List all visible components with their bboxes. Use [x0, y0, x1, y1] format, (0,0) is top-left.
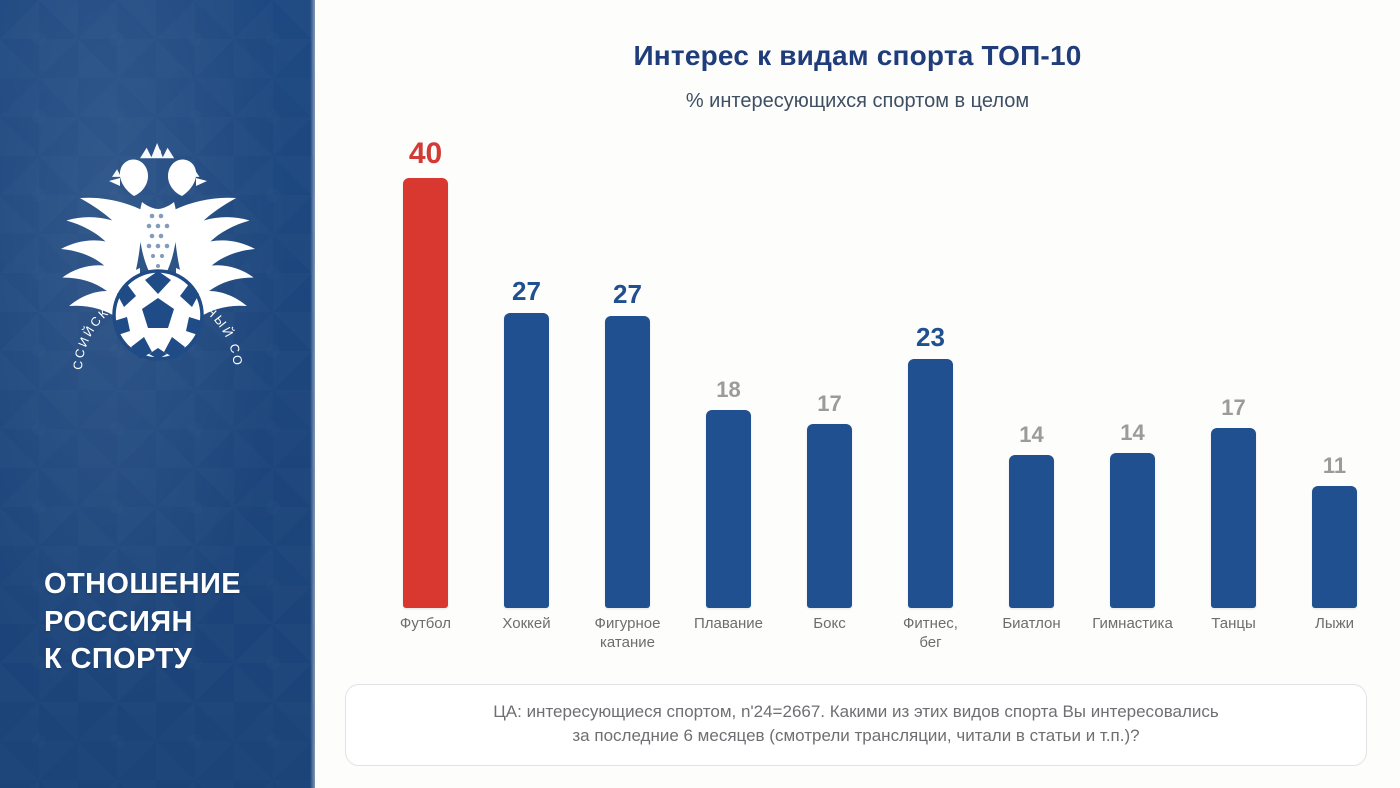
category-label: Плавание [678, 614, 779, 672]
bar [706, 410, 751, 608]
slide-root: РОССИЙСКИЙ ФУТБОЛЬНЫЙ СОЮЗ [0, 0, 1400, 788]
category-label-line: катание [579, 633, 676, 652]
category-label: Фигурноекатание [577, 614, 678, 672]
bar-column: 27 [577, 128, 678, 608]
bar [1211, 428, 1256, 608]
bar-chart: 40272718172314141711 ФутболХоккейФигурно… [375, 120, 1385, 680]
category-label-line: Футбол [377, 614, 474, 633]
sidebar-title-line-2: РОССИЯН [44, 604, 294, 642]
bar-value-label: 18 [716, 379, 740, 401]
sidebar-title: ОТНОШЕНИЕ РОССИЯН К СПОРТУ [44, 566, 294, 679]
category-label-line: Лыжи [1286, 614, 1383, 633]
category-label: Гимнастика [1082, 614, 1183, 672]
sidebar-title-line-1: ОТНОШЕНИЕ [44, 566, 294, 604]
sidebar-panel: РОССИЙСКИЙ ФУТБОЛЬНЫЙ СОЮЗ [0, 0, 315, 788]
bar-column: 17 [1183, 128, 1284, 608]
chart-title: Интерес к видам спорта ТОП-10 [315, 40, 1400, 72]
category-label-line: Гимнастика [1084, 614, 1181, 633]
sidebar-title-line-3: К СПОРТУ [44, 641, 294, 679]
bar-value-label: 23 [916, 324, 945, 350]
category-label-line: Биатлон [983, 614, 1080, 633]
bar-column: 17 [779, 128, 880, 608]
footnote-line-1: ЦА: интересующиеся спортом, n'24=2667. К… [370, 700, 1342, 724]
category-label-line: Фигурное [579, 614, 676, 633]
bar-value-label: 27 [613, 281, 642, 307]
category-axis-labels: ФутболХоккейФигурноекатаниеПлаваниеБоксФ… [375, 614, 1385, 672]
category-label: Хоккей [476, 614, 577, 672]
bar-series: 40272718172314141711 [375, 128, 1385, 608]
category-label: Бокс [779, 614, 880, 672]
category-label-line: Плавание [680, 614, 777, 633]
bar-column: 27 [476, 128, 577, 608]
bar-column: 23 [880, 128, 981, 608]
bar [1110, 453, 1155, 608]
bar-column: 14 [1082, 128, 1183, 608]
category-label-line: Фитнес, [882, 614, 979, 633]
chart-subtitle: % интересующихся спортом в целом [315, 90, 1400, 113]
category-label-line: Бокс [781, 614, 878, 633]
category-label-line: Хоккей [478, 614, 575, 633]
category-label-line: бег [882, 633, 979, 652]
bar [807, 424, 852, 608]
category-label: Футбол [375, 614, 476, 672]
bar-highlighted [403, 178, 448, 608]
bar-column: 40 [375, 128, 476, 608]
bar-value-label: 40 [409, 139, 442, 169]
football-ball-icon [114, 271, 202, 359]
bar-column: 18 [678, 128, 779, 608]
category-label: Танцы [1183, 614, 1284, 672]
main-content: Интерес к видам спорта ТОП-10 % интересу… [315, 0, 1400, 788]
russian-football-union-logo: РОССИЙСКИЙ ФУТБОЛЬНЫЙ СОЮЗ [53, 140, 263, 372]
bar [504, 313, 549, 608]
bar-value-label: 17 [1221, 397, 1245, 419]
bar [1312, 486, 1357, 608]
category-label: Лыжи [1284, 614, 1385, 672]
bar-value-label: 11 [1323, 455, 1346, 477]
bar [908, 359, 953, 608]
category-label: Биатлон [981, 614, 1082, 672]
footnote-line-2: за последние 6 месяцев (смотрели трансля… [370, 724, 1342, 748]
bar-value-label: 27 [512, 278, 541, 304]
bar-value-label: 17 [817, 393, 841, 415]
category-label: Фитнес,бег [880, 614, 981, 672]
bar [1009, 455, 1054, 608]
bar-value-label: 14 [1120, 422, 1144, 444]
bar-column: 14 [981, 128, 1082, 608]
bar-value-label: 14 [1019, 424, 1043, 446]
bar-column: 11 [1284, 128, 1385, 608]
category-label-line: Танцы [1185, 614, 1282, 633]
footnote-box: ЦА: интересующиеся спортом, n'24=2667. К… [345, 684, 1367, 766]
bar [605, 316, 650, 608]
